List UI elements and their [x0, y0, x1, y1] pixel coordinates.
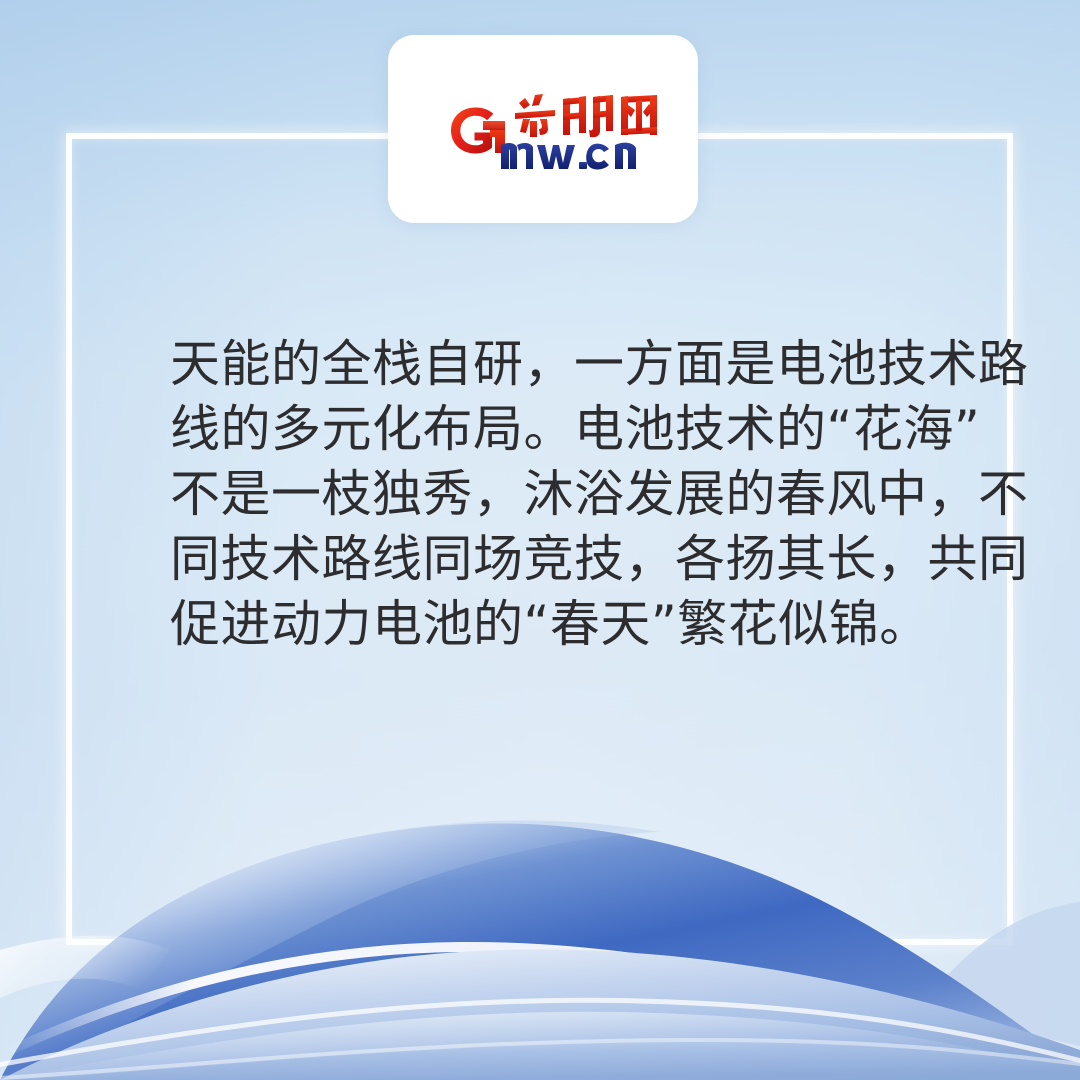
- quote-line: 同技术路线同场竞技，各扬其长，共同: [170, 527, 940, 592]
- quote-line: 线的多元化布局。电池技术的“花海”: [170, 397, 940, 462]
- brand-logo: [427, 85, 659, 173]
- quote-line: 不是一枝独秀，沐浴发展的春风中，不: [170, 462, 940, 527]
- brand-logo-card: [388, 35, 698, 223]
- poster-canvas: 天能的全栈自研，一方面是电池技术路 线的多元化布局。电池技术的“花海” 不是一枝…: [0, 0, 1080, 1080]
- quote-line: 天能的全栈自研，一方面是电池技术路: [170, 332, 940, 397]
- logo-domain-text: [501, 143, 636, 170]
- quote-line: 促进动力电池的“春天”繁花似锦。: [170, 592, 940, 657]
- gmw-logo-icon: [427, 85, 659, 173]
- logo-chinese-chars: [515, 94, 657, 137]
- logo-letter-g: [451, 108, 505, 154]
- quote-block: 天能的全栈自研，一方面是电池技术路 线的多元化布局。电池技术的“花海” 不是一枝…: [170, 332, 940, 657]
